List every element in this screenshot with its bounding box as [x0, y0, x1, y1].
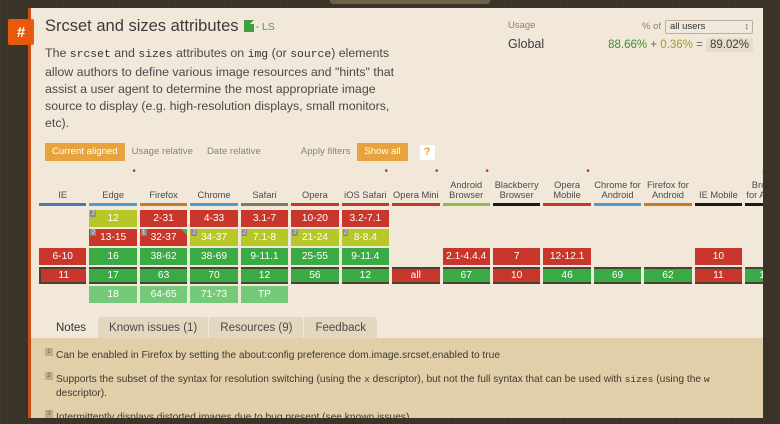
- support-cell[interactable]: 3.1-7: [241, 210, 288, 227]
- table-header-row: IEEdge•FirefoxChromeSafariOperaiOS Safar…: [39, 169, 763, 208]
- table-row: 6-101638-6238-699-11.125-559-11.42.1-4.4…: [39, 248, 763, 265]
- note-text: Can be enabled in Firefox by setting the…: [56, 350, 500, 361]
- support-cell-empty: [745, 229, 763, 246]
- column-header-chrome-for-android[interactable]: Chrome for Android: [594, 169, 641, 208]
- btn-usage-relative[interactable]: Usage relative: [125, 143, 200, 161]
- support-cell-empty: [543, 229, 590, 246]
- support-cell-empty: [39, 229, 86, 246]
- support-cell-empty: [745, 248, 763, 265]
- flag-corner-icon: [181, 229, 187, 235]
- page-root: # Srcset and sizes attributes- LS Usage …: [0, 0, 780, 424]
- note-item: 3Intermittently displays distorted image…: [45, 411, 749, 419]
- support-cell-version: 4-33: [204, 213, 224, 224]
- support-cell-empty: [493, 210, 540, 227]
- support-cell-version: 10: [511, 270, 522, 281]
- support-cell-empty: [644, 248, 691, 265]
- description-text: attributes on: [173, 46, 248, 60]
- column-accent-rule: [745, 203, 763, 206]
- column-header-android-browser[interactable]: Android Browser•: [443, 169, 490, 208]
- note-text: (using the: [653, 374, 703, 385]
- column-accent-rule: [241, 203, 288, 206]
- support-cell-version: 12: [259, 270, 270, 281]
- btn-current-aligned[interactable]: Current aligned: [45, 143, 125, 161]
- inline-code: source: [290, 49, 331, 61]
- support-cell[interactable]: 12-12.1: [543, 248, 590, 265]
- support-cell[interactable]: 234-37: [190, 229, 237, 246]
- tab-feedback[interactable]: Feedback: [304, 317, 377, 338]
- footnote-marker[interactable]: 1: [141, 229, 147, 236]
- support-cell[interactable]: 9-11.1: [241, 248, 288, 265]
- support-cell-empty: [291, 286, 338, 303]
- support-cell[interactable]: 6-10: [39, 248, 86, 265]
- support-cell[interactable]: 11: [39, 267, 86, 284]
- support-cell-version: 10: [713, 251, 724, 262]
- footnote-marker[interactable]: 2: [343, 229, 349, 236]
- detail-tabs: NotesKnown issues (1)Resources (9)Feedba…: [45, 317, 763, 338]
- support-cell-version: 11: [58, 270, 69, 281]
- support-cell-version: 12: [360, 270, 371, 281]
- support-cell-version: 3.2-7.1: [349, 213, 381, 224]
- support-cell-empty: [493, 229, 540, 246]
- column-accent-rule: [39, 203, 86, 206]
- support-cell[interactable]: 4-33: [190, 210, 237, 227]
- column-header-blackberry-browser[interactable]: Blackberry Browser: [493, 169, 540, 208]
- support-cell-version: 25-55: [302, 251, 328, 262]
- footnote-marker[interactable]: 2: [90, 210, 96, 217]
- support-cell[interactable]: 213-15: [89, 229, 136, 246]
- support-cell-empty: [443, 210, 490, 227]
- column-accent-rule: [140, 203, 187, 206]
- column-header-label: IE: [39, 190, 86, 201]
- support-cell-version: 13-15: [100, 232, 126, 243]
- support-cell-empty: [543, 210, 590, 227]
- support-cell-empty: [644, 210, 691, 227]
- column-header-firefox[interactable]: Firefox: [140, 169, 187, 208]
- note-item: 1Can be enabled in Firefox by setting th…: [45, 349, 749, 363]
- feature-description: The srcset and sizes attributes on img (…: [45, 45, 405, 132]
- note-text: descriptor).: [56, 388, 107, 399]
- inline-code: w: [704, 374, 710, 385]
- support-cell-version: 21-24: [302, 232, 328, 243]
- support-cell-empty: [644, 286, 691, 303]
- usage-label: Usage: [508, 20, 535, 31]
- support-cell-empty: [594, 210, 641, 227]
- support-cell-version: 38-69: [201, 251, 227, 262]
- support-cell[interactable]: 27.1-8: [241, 229, 288, 246]
- table-row: 213-15132-37234-3727.1-8221-2428-8.4: [39, 229, 763, 246]
- support-cell[interactable]: 9-11.4: [342, 248, 389, 265]
- support-cell-version: 71-73: [201, 289, 227, 300]
- note-number: 2: [45, 372, 53, 380]
- btn-show-all[interactable]: Show all: [357, 143, 407, 161]
- column-accent-rule: [392, 203, 439, 206]
- support-cell[interactable]: 18: [89, 286, 136, 303]
- support-cell-version: 56: [309, 270, 320, 281]
- column-accent-rule: [443, 203, 490, 206]
- description-text: The: [45, 46, 70, 60]
- spec-document-icon: [244, 20, 254, 32]
- support-cell[interactable]: 3.2-7.1: [342, 210, 389, 227]
- percent-of-label: % of: [642, 21, 661, 32]
- support-cell-empty: [493, 286, 540, 303]
- support-cell-empty: [594, 248, 641, 265]
- support-cell-empty: [39, 286, 86, 303]
- table-body: 2122-314-333.1-710-203.2-7.1213-15132-37…: [39, 210, 763, 303]
- column-header-ie[interactable]: IE: [39, 169, 86, 208]
- column-accent-rule: [190, 203, 237, 206]
- support-cell-empty: [695, 229, 742, 246]
- support-cell-version: 32-37: [151, 232, 177, 243]
- support-cell-version: 17: [107, 270, 118, 281]
- page-title: Srcset and sizes attributes: [45, 17, 239, 36]
- support-cell-empty: [392, 229, 439, 246]
- column-header-label: Chrome for Android: [594, 180, 641, 201]
- column-note-dot-icon: •: [485, 167, 489, 178]
- column-header-firefox-for-android[interactable]: Firefox for Android: [644, 169, 691, 208]
- support-cell[interactable]: 11: [695, 267, 742, 284]
- support-cell-empty: [695, 286, 742, 303]
- feature-header: Srcset and sizes attributes- LS Usage % …: [31, 8, 763, 36]
- note-item: 2Supports the subset of the syntax for r…: [45, 373, 749, 401]
- support-cell[interactable]: 56: [291, 267, 338, 284]
- inline-code: srcset: [70, 49, 111, 61]
- column-header-chrome[interactable]: Chrome: [190, 169, 237, 208]
- support-cell-version: 8-8.4: [354, 232, 377, 243]
- support-cell-version: 46: [561, 270, 572, 281]
- usage-partial-support: 0.36%: [660, 39, 693, 51]
- support-cell[interactable]: 16: [89, 248, 136, 265]
- note-number: 3: [45, 410, 53, 418]
- support-cell-empty: [745, 286, 763, 303]
- column-header-label: Firefox for Android: [644, 180, 691, 201]
- note-text: descriptor), but not the full syntax tha…: [370, 374, 625, 385]
- column-header-uc-browser-for-android[interactable]: UC Browser for Android: [745, 169, 763, 208]
- column-header-label: Opera: [291, 190, 338, 201]
- support-cell-version: 11: [713, 270, 724, 281]
- tab-known-issues-1[interactable]: Known issues (1): [98, 317, 208, 338]
- support-cell[interactable]: 62: [644, 267, 691, 284]
- column-note-dot-icon: •: [586, 167, 590, 178]
- table-row: 1864-6571-73TP: [39, 286, 763, 303]
- column-header-label: Opera Mobile: [543, 180, 590, 201]
- column-header-label: Blackberry Browser: [493, 180, 540, 201]
- btn-apply-filters[interactable]: Apply filters: [294, 143, 358, 161]
- inline-code: img: [248, 49, 269, 61]
- support-cell[interactable]: 64-65: [140, 286, 187, 303]
- anchor-hash-badge[interactable]: #: [8, 19, 34, 45]
- support-cell-version: 16: [107, 251, 118, 262]
- support-cell[interactable]: 12: [342, 267, 389, 284]
- column-accent-rule: [291, 203, 338, 206]
- column-accent-rule: [695, 203, 742, 206]
- support-cell[interactable]: 2-31: [140, 210, 187, 227]
- column-header-safari[interactable]: Safari: [241, 169, 288, 208]
- support-cell[interactable]: 25-55: [291, 248, 338, 265]
- column-accent-rule: [342, 203, 389, 206]
- support-cell-empty: [644, 229, 691, 246]
- tab-notes[interactable]: Notes: [45, 317, 97, 338]
- table-row: 2122-314-333.1-710-203.2-7.1: [39, 210, 763, 227]
- btn-date-relative[interactable]: Date relative: [200, 143, 268, 161]
- description-text: (or: [268, 46, 290, 60]
- support-cell-empty: [594, 229, 641, 246]
- support-cell-empty: [594, 286, 641, 303]
- table-row: 11176370125612all67104669621111.87.2: [39, 267, 763, 284]
- notes-pane: 1Can be enabled in Firefox by setting th…: [31, 338, 763, 419]
- column-header-ie-mobile[interactable]: IE Mobile: [695, 169, 742, 208]
- column-header-label: Edge: [89, 190, 136, 201]
- column-accent-rule: [543, 203, 590, 206]
- column-header-label: Firefox: [140, 190, 187, 201]
- usage-scope-label: Global: [508, 37, 544, 51]
- note-text: Supports the subset of the syntax for re…: [56, 374, 364, 385]
- support-cell-version: 10-20: [302, 213, 328, 224]
- support-cell[interactable]: 70: [190, 267, 237, 284]
- note-text: Intermittently displays distorted images…: [56, 412, 409, 419]
- support-cell[interactable]: 67: [443, 267, 490, 284]
- support-cell-version: 3.1-7: [253, 213, 276, 224]
- support-cell-empty: [745, 210, 763, 227]
- footnote-marker[interactable]: 2: [191, 229, 197, 236]
- support-cell[interactable]: 46: [543, 267, 590, 284]
- audience-select[interactable]: all users: [665, 20, 753, 34]
- column-header-label: IE Mobile: [695, 190, 742, 201]
- table-toolbar: Current aligned Usage relative Date rela…: [45, 143, 763, 161]
- support-cell-empty: [39, 210, 86, 227]
- support-cell-version: 62: [662, 270, 673, 281]
- column-note-dot-icon: •: [132, 167, 136, 178]
- column-accent-rule: [644, 203, 691, 206]
- support-cell[interactable]: 10: [493, 267, 540, 284]
- column-header-opera-mini[interactable]: Opera Mini•: [392, 169, 439, 208]
- column-header-label: Safari: [241, 190, 288, 201]
- support-cell-version: 2-31: [153, 213, 173, 224]
- column-header-label: Opera Mini: [392, 190, 439, 201]
- footnote-marker[interactable]: 2: [242, 229, 248, 236]
- support-cell-version: 12-12.1: [550, 251, 585, 262]
- support-cell[interactable]: 10: [695, 248, 742, 265]
- support-cell-empty: [392, 248, 439, 265]
- support-cell-version: 70: [208, 270, 219, 281]
- column-header-edge[interactable]: Edge•: [89, 169, 136, 208]
- support-cell-empty: [392, 210, 439, 227]
- support-cell[interactable]: 38-69: [190, 248, 237, 265]
- support-cell-version: 7.1-8: [253, 232, 276, 243]
- column-accent-rule: [493, 203, 540, 206]
- support-cell-version: 6-10: [53, 251, 73, 262]
- usage-total: 89.02%: [706, 38, 753, 52]
- description-text: and: [111, 46, 139, 60]
- column-header-opera-mobile[interactable]: Opera Mobile•: [543, 169, 590, 208]
- support-cell-empty: [342, 286, 389, 303]
- usage-plus-sign: +: [650, 39, 657, 51]
- support-cell[interactable]: 221-24: [291, 229, 338, 246]
- support-cell-version: 7: [514, 251, 520, 262]
- tab-resources-9[interactable]: Resources (9): [209, 317, 303, 338]
- support-cell-empty: [695, 210, 742, 227]
- column-header-opera[interactable]: Opera: [291, 169, 338, 208]
- inline-code: sizes: [625, 374, 654, 385]
- support-cell-version: 63: [158, 270, 169, 281]
- support-cell[interactable]: 17: [89, 267, 136, 284]
- support-cell-version: 12: [107, 213, 118, 224]
- support-cell-version: 69: [612, 270, 623, 281]
- column-accent-rule: [89, 203, 136, 206]
- support-cell[interactable]: 212: [89, 210, 136, 227]
- usage-full-support: 88.66%: [608, 39, 647, 51]
- inline-code: sizes: [138, 49, 172, 61]
- support-cell-empty: [392, 286, 439, 303]
- help-icon[interactable]: ?: [420, 145, 435, 160]
- support-cell-version: TP: [258, 289, 271, 300]
- top-strip: [330, 0, 490, 4]
- column-header-label: Chrome: [190, 190, 237, 201]
- support-cell-version: 9-11.4: [351, 251, 379, 262]
- column-header-label: Android Browser: [443, 180, 490, 201]
- usage-equals-sign: =: [696, 39, 703, 51]
- support-cell[interactable]: 63: [140, 267, 187, 284]
- support-cell-empty: [443, 229, 490, 246]
- support-cell[interactable]: TP: [241, 286, 288, 303]
- usage-summary: Usage % ofall users Global 88.66% + 0.36…: [508, 18, 753, 51]
- support-cell[interactable]: 11.8: [745, 267, 763, 284]
- column-header-label: iOS Safari: [342, 190, 389, 201]
- support-cell[interactable]: 69: [594, 267, 641, 284]
- support-cell[interactable]: all: [392, 267, 439, 284]
- support-cell[interactable]: 7: [493, 248, 540, 265]
- support-cell-version: 18: [107, 289, 118, 300]
- column-note-dot-icon: •: [385, 167, 389, 178]
- column-header-label: UC Browser for Android: [745, 169, 763, 201]
- support-cell-version: 67: [461, 270, 472, 281]
- note-number: 1: [45, 348, 53, 356]
- support-cell-version: 38-62: [151, 251, 177, 262]
- browser-support-table: IEEdge•FirefoxChromeSafariOperaiOS Safar…: [36, 167, 763, 305]
- column-header-ios-safari[interactable]: iOS Safari•: [342, 169, 389, 208]
- support-cell-version: 9-11.1: [250, 251, 278, 262]
- support-cell-version: 11.8: [759, 270, 763, 281]
- support-cell-version: all: [411, 270, 421, 281]
- footnote-marker[interactable]: 2: [90, 229, 96, 236]
- support-table-wrap: IEEdge•FirefoxChromeSafariOperaiOS Safar…: [31, 167, 763, 305]
- support-cell[interactable]: 2.1-4.4.4: [443, 248, 490, 265]
- support-cell[interactable]: 71-73: [190, 286, 237, 303]
- support-cell-version: 64-65: [151, 289, 177, 300]
- support-cell[interactable]: 132-37: [140, 229, 187, 246]
- support-cell[interactable]: 10-20: [291, 210, 338, 227]
- support-cell[interactable]: 38-62: [140, 248, 187, 265]
- column-accent-rule: [594, 203, 641, 206]
- column-note-dot-icon: •: [435, 167, 439, 178]
- support-cell-version: 2.1-4.4.4: [446, 251, 486, 262]
- feature-panel: Srcset and sizes attributes- LS Usage % …: [28, 8, 763, 418]
- support-cell-empty: [443, 286, 490, 303]
- support-cell-empty: [543, 286, 590, 303]
- support-cell[interactable]: 12: [241, 267, 288, 284]
- spec-status-label: - LS: [256, 21, 275, 33]
- support-cell[interactable]: 28-8.4: [342, 229, 389, 246]
- support-cell-version: 34-37: [201, 232, 227, 243]
- footnote-marker[interactable]: 2: [292, 229, 298, 236]
